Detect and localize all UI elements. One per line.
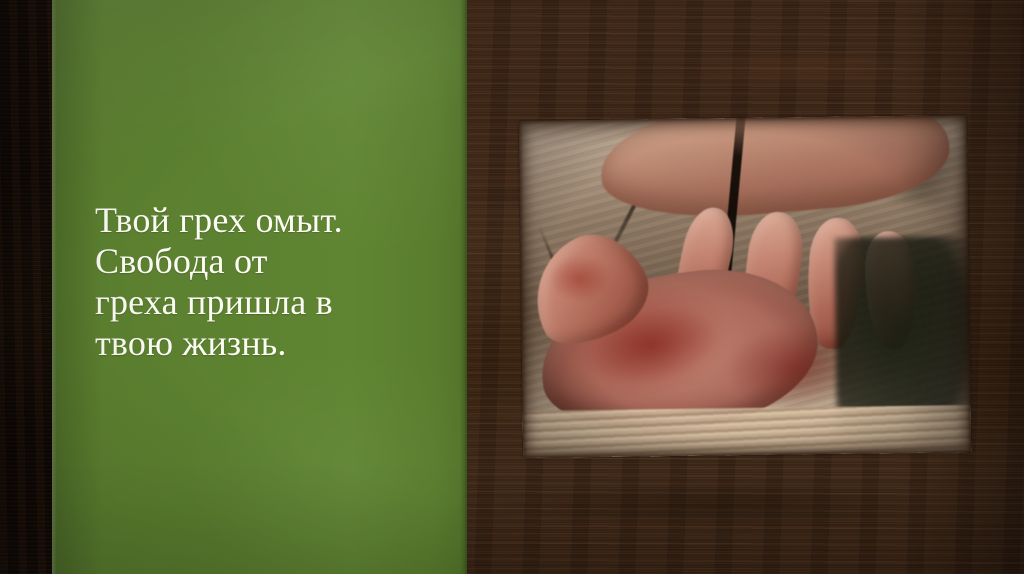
green-content-panel: Твой грех омыт. Свобода от греха пришла … bbox=[52, 0, 467, 574]
green-panel-right-edge bbox=[460, 0, 467, 574]
photo-image bbox=[519, 115, 971, 458]
blood-stain-thumb bbox=[547, 255, 610, 303]
photo-frame bbox=[519, 115, 971, 458]
slide: Твой грех омыт. Свобода от греха пришла … bbox=[0, 0, 1024, 574]
headline-text: Твой грех омыт. Свобода от греха пришла … bbox=[95, 200, 455, 364]
wood-dark-left-column bbox=[0, 0, 54, 574]
photo-bottom-planks bbox=[519, 405, 971, 458]
green-panel-left-edge bbox=[52, 0, 57, 574]
